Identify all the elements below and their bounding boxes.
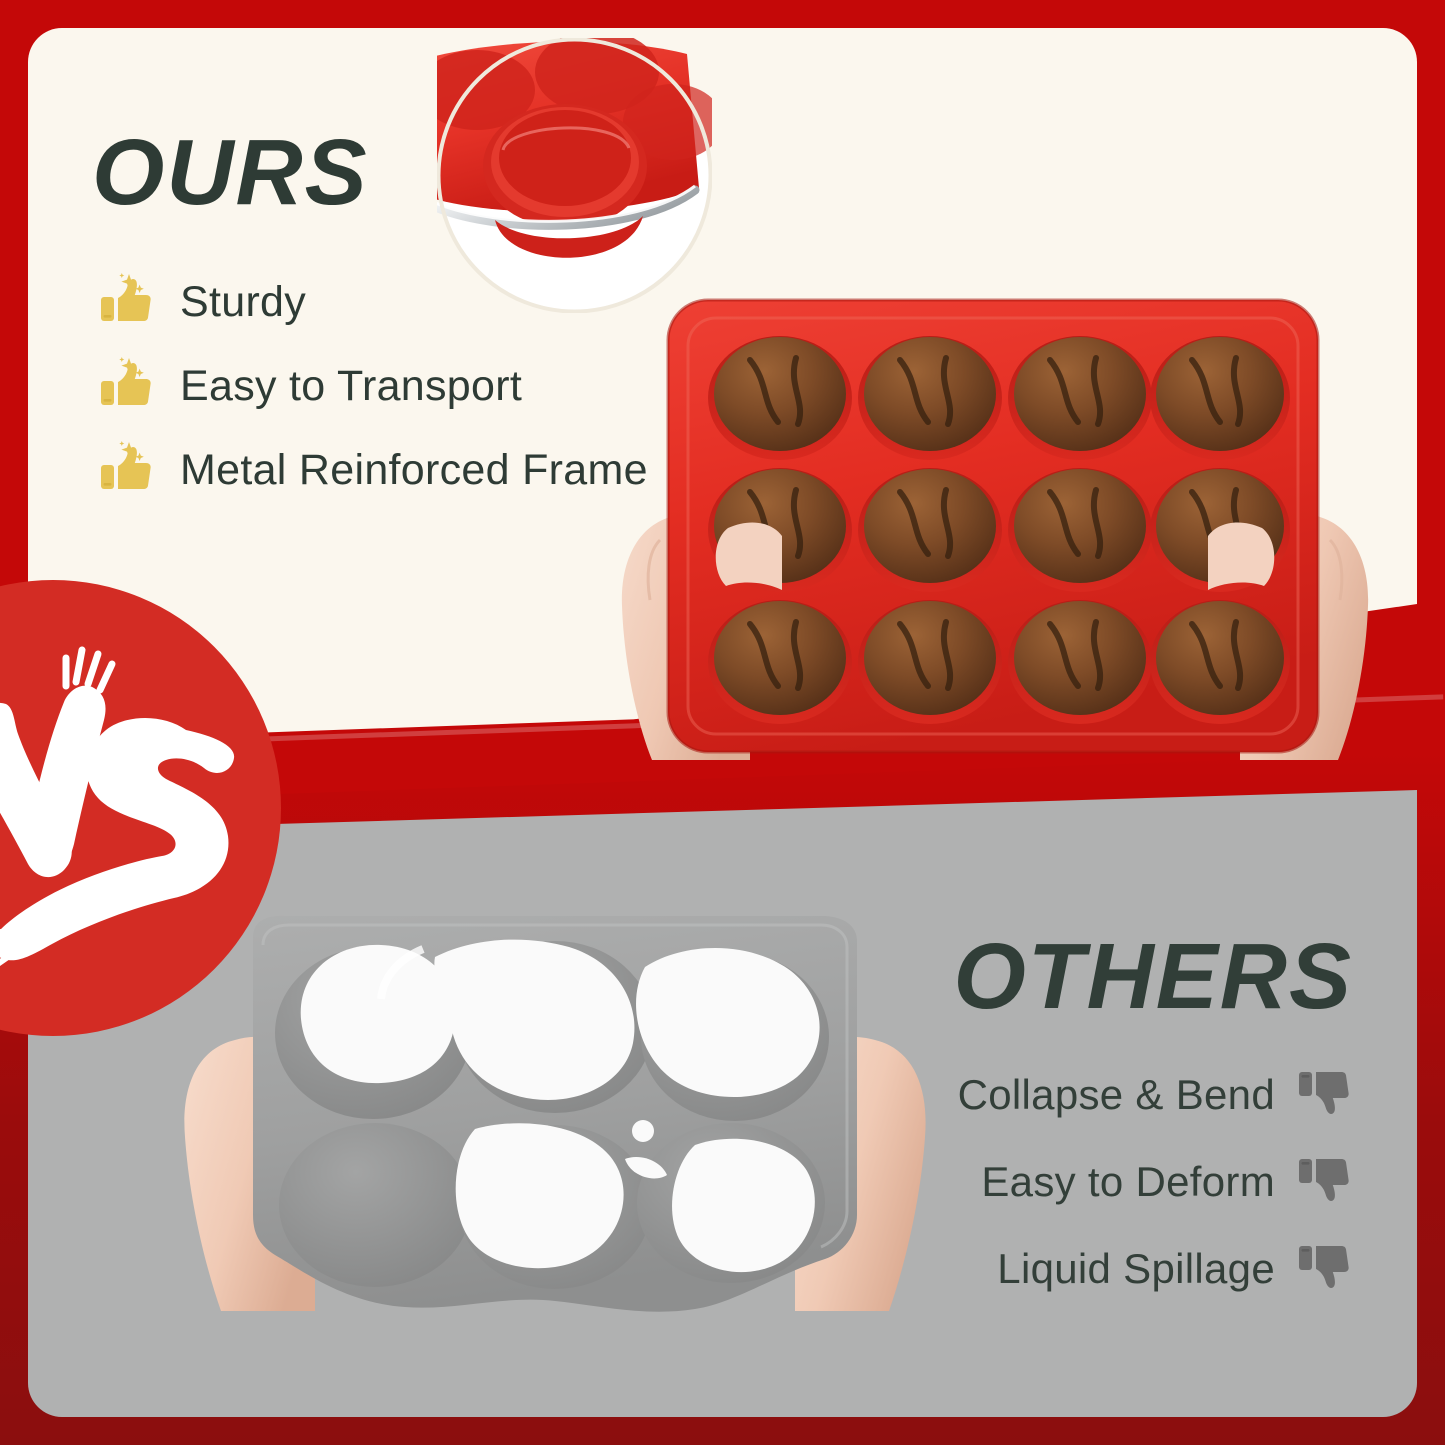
thumbs-up-sparkle-icon <box>98 356 154 417</box>
muffin-cells <box>708 336 1290 724</box>
thumbs-up-sparkle-icon <box>98 272 154 333</box>
list-item: Metal Reinforced Frame <box>98 442 648 498</box>
list-item-label: Metal Reinforced Frame <box>180 446 648 495</box>
thumbs-up-sparkle-icon <box>98 440 154 501</box>
list-item-label: Liquid Spillage <box>997 1245 1275 1293</box>
thumbs-down-icon <box>1297 1066 1351 1125</box>
list-item: Easy to Deform <box>958 1155 1351 1209</box>
right-thumb <box>1208 522 1274 590</box>
list-item: Easy to Transport <box>98 358 648 414</box>
others-feature-list: Collapse & Bend Easy to Deform <box>958 1068 1351 1329</box>
list-item-label: Collapse & Bend <box>958 1071 1275 1119</box>
list-item-label: Sturdy <box>180 278 306 327</box>
product-detail-inset <box>437 38 712 313</box>
others-heading: OTHERS <box>953 930 1353 1023</box>
ours-product-photo <box>600 290 1390 810</box>
vs-badge <box>0 578 282 1038</box>
others-product-photo <box>175 915 935 1395</box>
thumbs-down-icon <box>1297 1153 1351 1212</box>
thumbs-down-icon <box>1297 1240 1351 1299</box>
left-thumb <box>716 522 782 590</box>
ours-heading: OURS <box>92 126 369 219</box>
list-item: Collapse & Bend <box>958 1068 1351 1122</box>
list-item: Liquid Spillage <box>958 1242 1351 1296</box>
comparison-poster: OURS Sturdy <box>0 0 1445 1445</box>
list-item-label: Easy to Deform <box>981 1158 1275 1206</box>
list-item-label: Easy to Transport <box>180 362 522 411</box>
